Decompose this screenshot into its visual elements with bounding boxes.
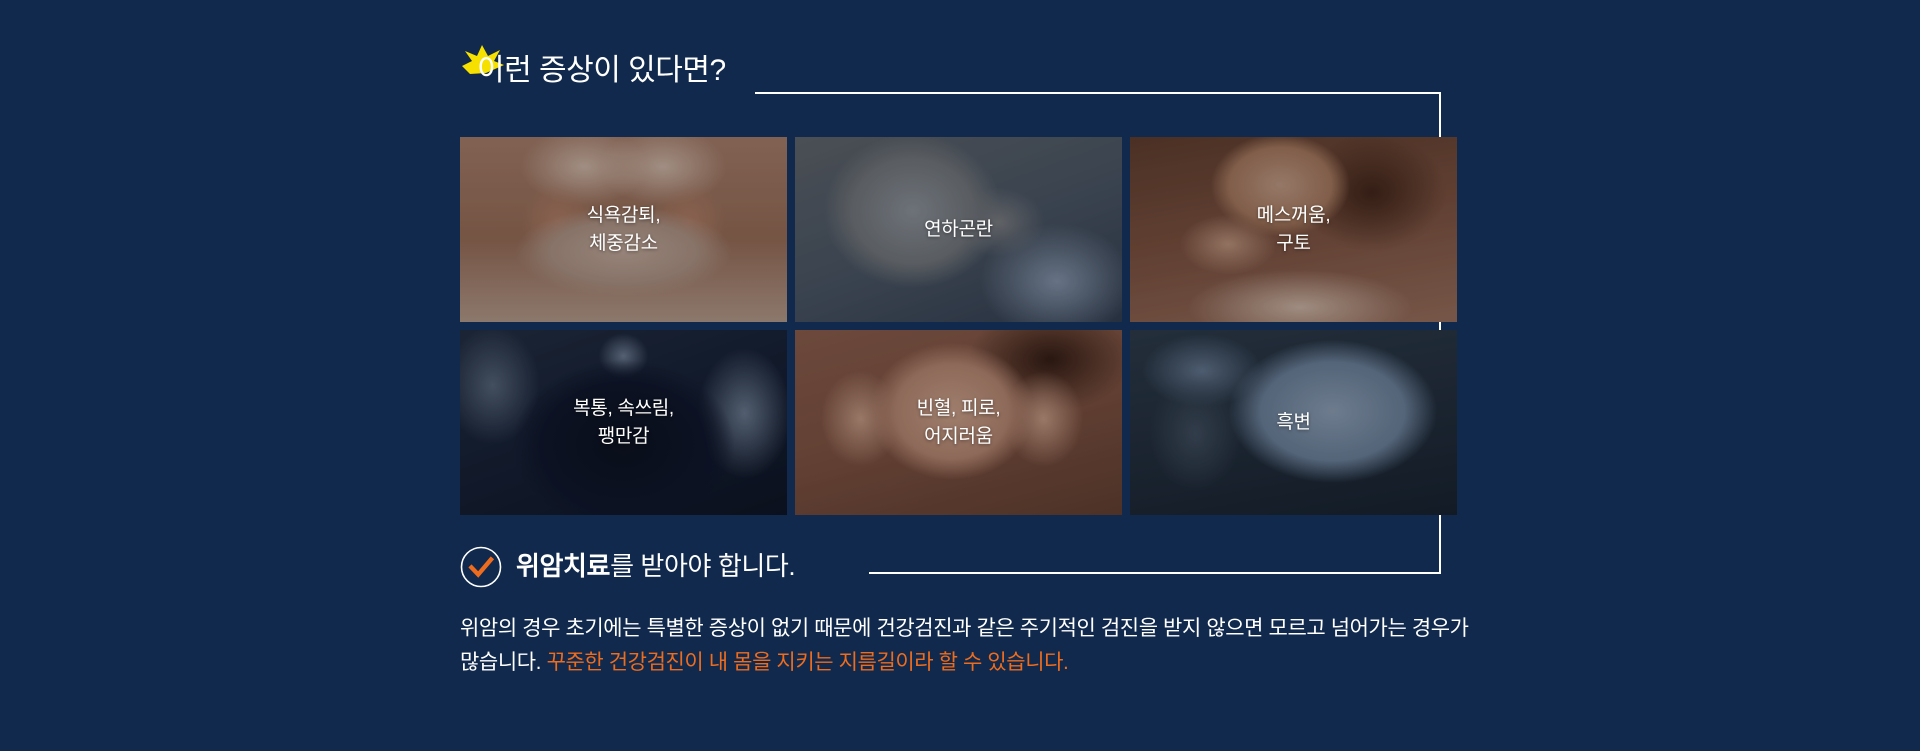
symptom-card-appetite-loss[interactable]: 식욕감퇴, 체중감소 — [460, 137, 787, 322]
symptoms-heading: 이런 증상이 있다면? — [460, 56, 726, 86]
symptom-card-dysphagia[interactable]: 연하곤란 — [795, 137, 1122, 322]
symptom-label: 빈혈, 피로, 어지러움 — [917, 395, 1001, 450]
symptom-label: 흑변 — [1276, 409, 1310, 437]
page-root: 이런 증상이 있다면? 식욕감퇴, 체중감소 연하곤란 메스꺼움, 구토 복통,… — [0, 0, 1920, 751]
symptom-grid: 식욕감퇴, 체중감소 연하곤란 메스꺼움, 구토 복통, 속쓰림, 팽만감 빈혈… — [460, 137, 1460, 515]
symptom-card-nausea-vomiting[interactable]: 메스꺼움, 구토 — [1130, 137, 1457, 322]
symptom-card-anemia-fatigue[interactable]: 빈혈, 피로, 어지러움 — [795, 330, 1122, 515]
connector-line-bottom — [869, 572, 1441, 574]
treatment-heading-text: 위암치료를 받아야 합니다. — [516, 553, 795, 581]
description-paragraph: 위암의 경우 초기에는 특별한 증상이 없기 때문에 건강검진과 같은 주기적인… — [460, 612, 1470, 680]
treatment-heading: 위암치료를 받아야 합니다. — [460, 546, 795, 588]
description-accent-text: 꾸준한 건강검진이 내 몸을 지키는 지름길이라 할 수 있습니다. — [547, 651, 1069, 674]
symptom-card-abdominal-pain[interactable]: 복통, 속쓰림, 팽만감 — [460, 330, 787, 515]
symptom-label: 복통, 속쓰림, 팽만감 — [573, 395, 674, 450]
treatment-heading-rest: 를 받아야 합니다. — [610, 551, 795, 581]
symptoms-heading-text: 이런 증상이 있다면? — [460, 56, 726, 86]
symptom-label: 메스꺼움, 구토 — [1257, 202, 1331, 257]
symptom-card-melena[interactable]: 흑변 — [1130, 330, 1457, 515]
check-circle-icon — [460, 546, 502, 588]
treatment-heading-strong: 위암치료 — [516, 551, 610, 581]
connector-line-top — [755, 92, 1441, 94]
symptom-label: 연하곤란 — [924, 216, 993, 244]
symptom-label: 식욕감퇴, 체중감소 — [587, 202, 661, 257]
